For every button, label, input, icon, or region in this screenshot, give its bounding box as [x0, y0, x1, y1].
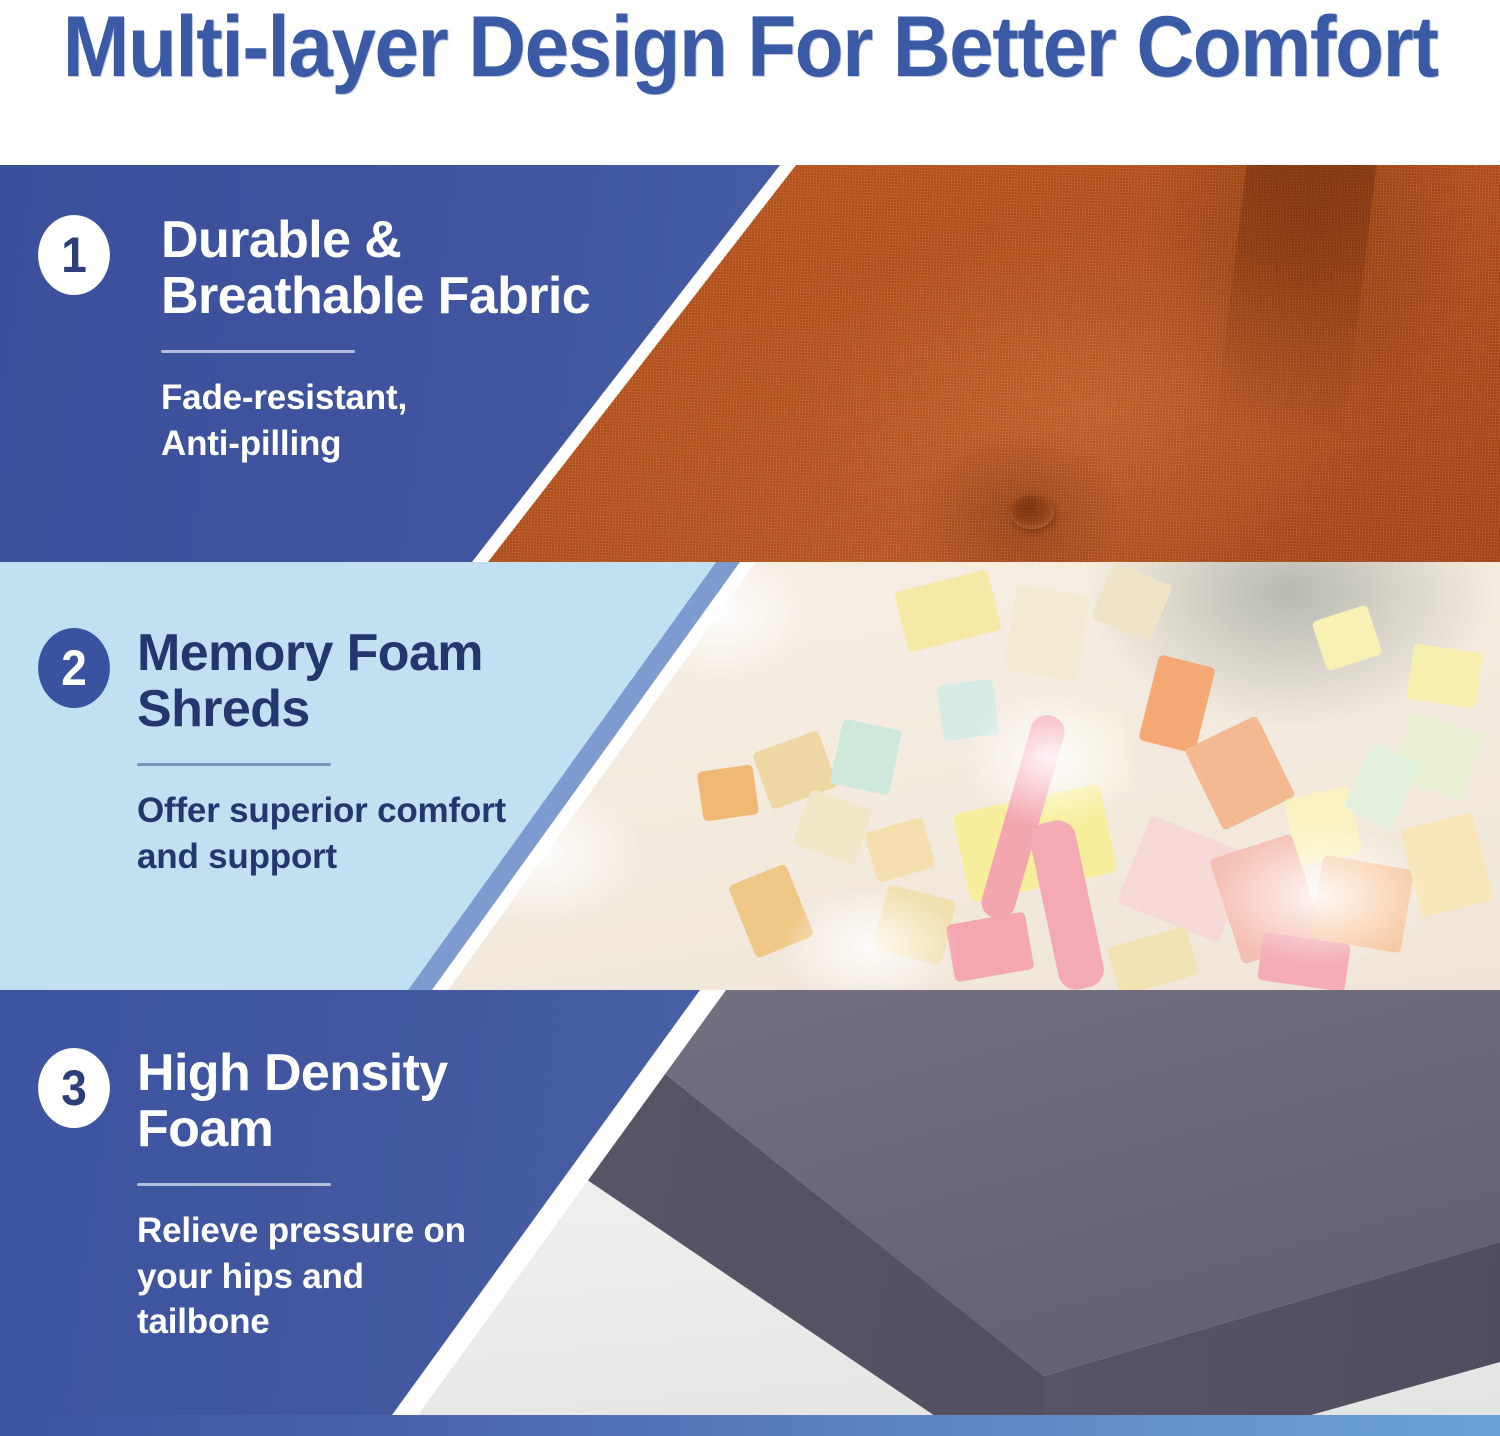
layer-2-content: 2 Memory Foam Shreds Offer superior comf…	[35, 628, 506, 879]
layer-2-text-column: Memory Foam Shreds Offer superior comfor…	[113, 628, 506, 879]
layer-2-heading-line-1: Memory Foam	[137, 626, 506, 682]
layer-1-number: 1	[61, 230, 87, 280]
layer-2-heading-line-2: Shreds	[137, 682, 506, 738]
layer-1-description-line-1: Fade-resistant,	[161, 375, 590, 421]
layer-3-description: Relieve pressure on your hips and tailbo…	[137, 1208, 466, 1345]
layer-3-description-line-2: your hips and	[137, 1254, 466, 1300]
layer-1-heading-line-1: Durable &	[161, 213, 590, 269]
layer-2-number-badge: 2	[38, 628, 110, 708]
layer-3-heading-line-2: Foam	[137, 1102, 466, 1158]
layer-3-number: 3	[61, 1063, 87, 1113]
layer-3-heading: High Density Foam	[137, 1046, 466, 1157]
layer-1-heading: Durable & Breathable Fabric	[161, 213, 590, 324]
layer-3-description-line-3: tailbone	[137, 1299, 466, 1345]
layer-1-number-badge: 1	[38, 215, 110, 295]
title-bar: Multi-layer Design For Better Comfort	[0, 0, 1500, 165]
page-title: Multi-layer Design For Better Comfort	[63, 0, 1438, 92]
layer-1-description: Fade-resistant, Anti-pilling	[161, 375, 590, 466]
layer-3-number-badge: 3	[38, 1048, 110, 1128]
layer-1-text-column: Durable & Breathable Fabric Fade-resista…	[137, 215, 590, 466]
layer-3-text-column: High Density Foam Relieve pressure on yo…	[113, 1048, 466, 1345]
layer-3-content: 3 High Density Foam Relieve pressure on …	[35, 1048, 466, 1345]
layer-1-description-line-2: Anti-pilling	[161, 421, 590, 467]
bottom-accent-band	[0, 1415, 1500, 1436]
layer-2-description-line-2: and support	[137, 834, 506, 880]
layer-2-description: Offer superior comfort and support	[137, 788, 506, 879]
fabric-tuft-button	[1010, 495, 1054, 529]
layer-2-number: 2	[61, 643, 87, 693]
layer-1-content: 1 Durable & Breathable Fabric Fade-resis…	[35, 215, 590, 466]
layer-2-description-line-1: Offer superior comfort	[137, 788, 506, 834]
layer-3-description-line-1: Relieve pressure on	[137, 1208, 466, 1254]
layer-3-heading-line-1: High Density	[137, 1046, 466, 1102]
layer-3-divider	[137, 1183, 331, 1186]
layer-1-divider	[161, 350, 355, 353]
layer-2-heading: Memory Foam Shreds	[137, 626, 506, 737]
layer-2-divider	[137, 763, 331, 766]
layer-1-heading-line-2: Breathable Fabric	[161, 269, 590, 325]
